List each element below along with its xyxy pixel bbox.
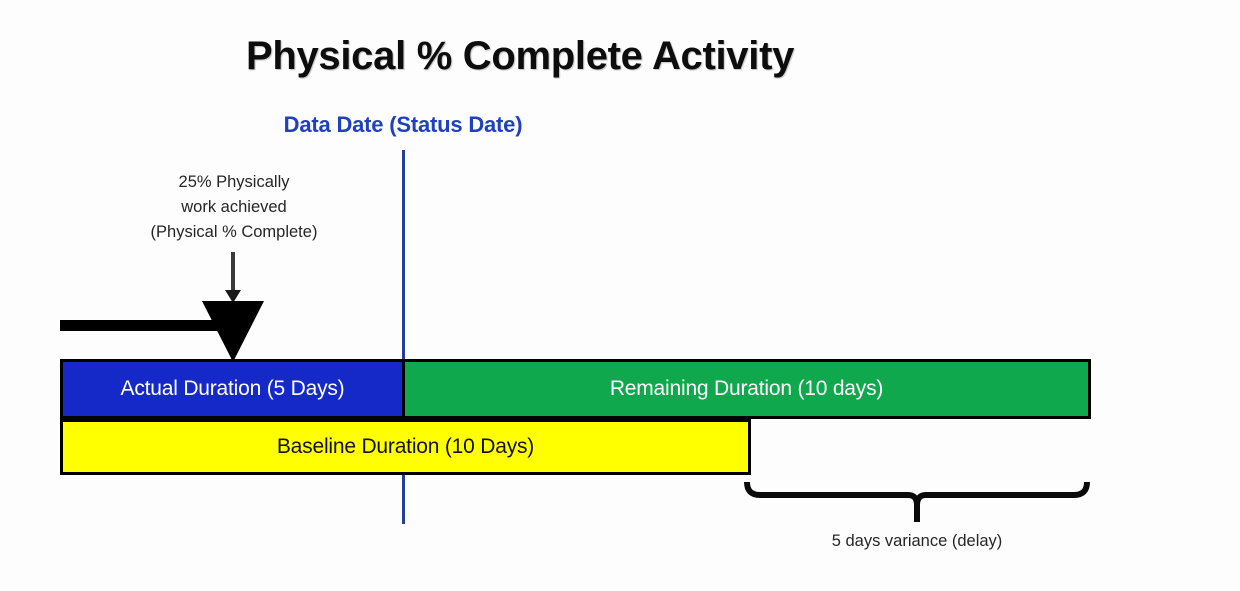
bar-baseline-duration-label: Baseline Duration (10 Days) [277,435,534,459]
variance-brace [742,478,1092,526]
variance-brace-icon [742,478,1092,526]
annotation-line-2: work achieved [114,195,354,220]
annotation-line-1: 25% Physically [114,170,354,195]
bar-baseline-duration: Baseline Duration (10 Days) [60,419,751,475]
annotation-arrow-shaft [231,252,235,294]
annotation-line-3: (Physical % Complete) [114,220,354,245]
bar-remaining-duration-label: Remaining Duration (10 days) [610,377,883,401]
progress-marker-triangle-icon [202,301,264,362]
bar-remaining-duration: Remaining Duration (10 days) [402,359,1091,419]
variance-label: 5 days variance (delay) [742,532,1092,551]
bar-actual-duration: Actual Duration (5 Days) [60,359,405,419]
progress-marker-line [60,320,225,331]
diagram-canvas: Physical % Complete Activity Data Date (… [0,0,1240,591]
physical-percent-annotation: 25% Physically work achieved (Physical %… [114,170,354,245]
bar-actual-duration-label: Actual Duration (5 Days) [121,377,345,401]
page-title: Physical % Complete Activity [0,34,1040,79]
data-date-label: Data Date (Status Date) [0,112,806,138]
